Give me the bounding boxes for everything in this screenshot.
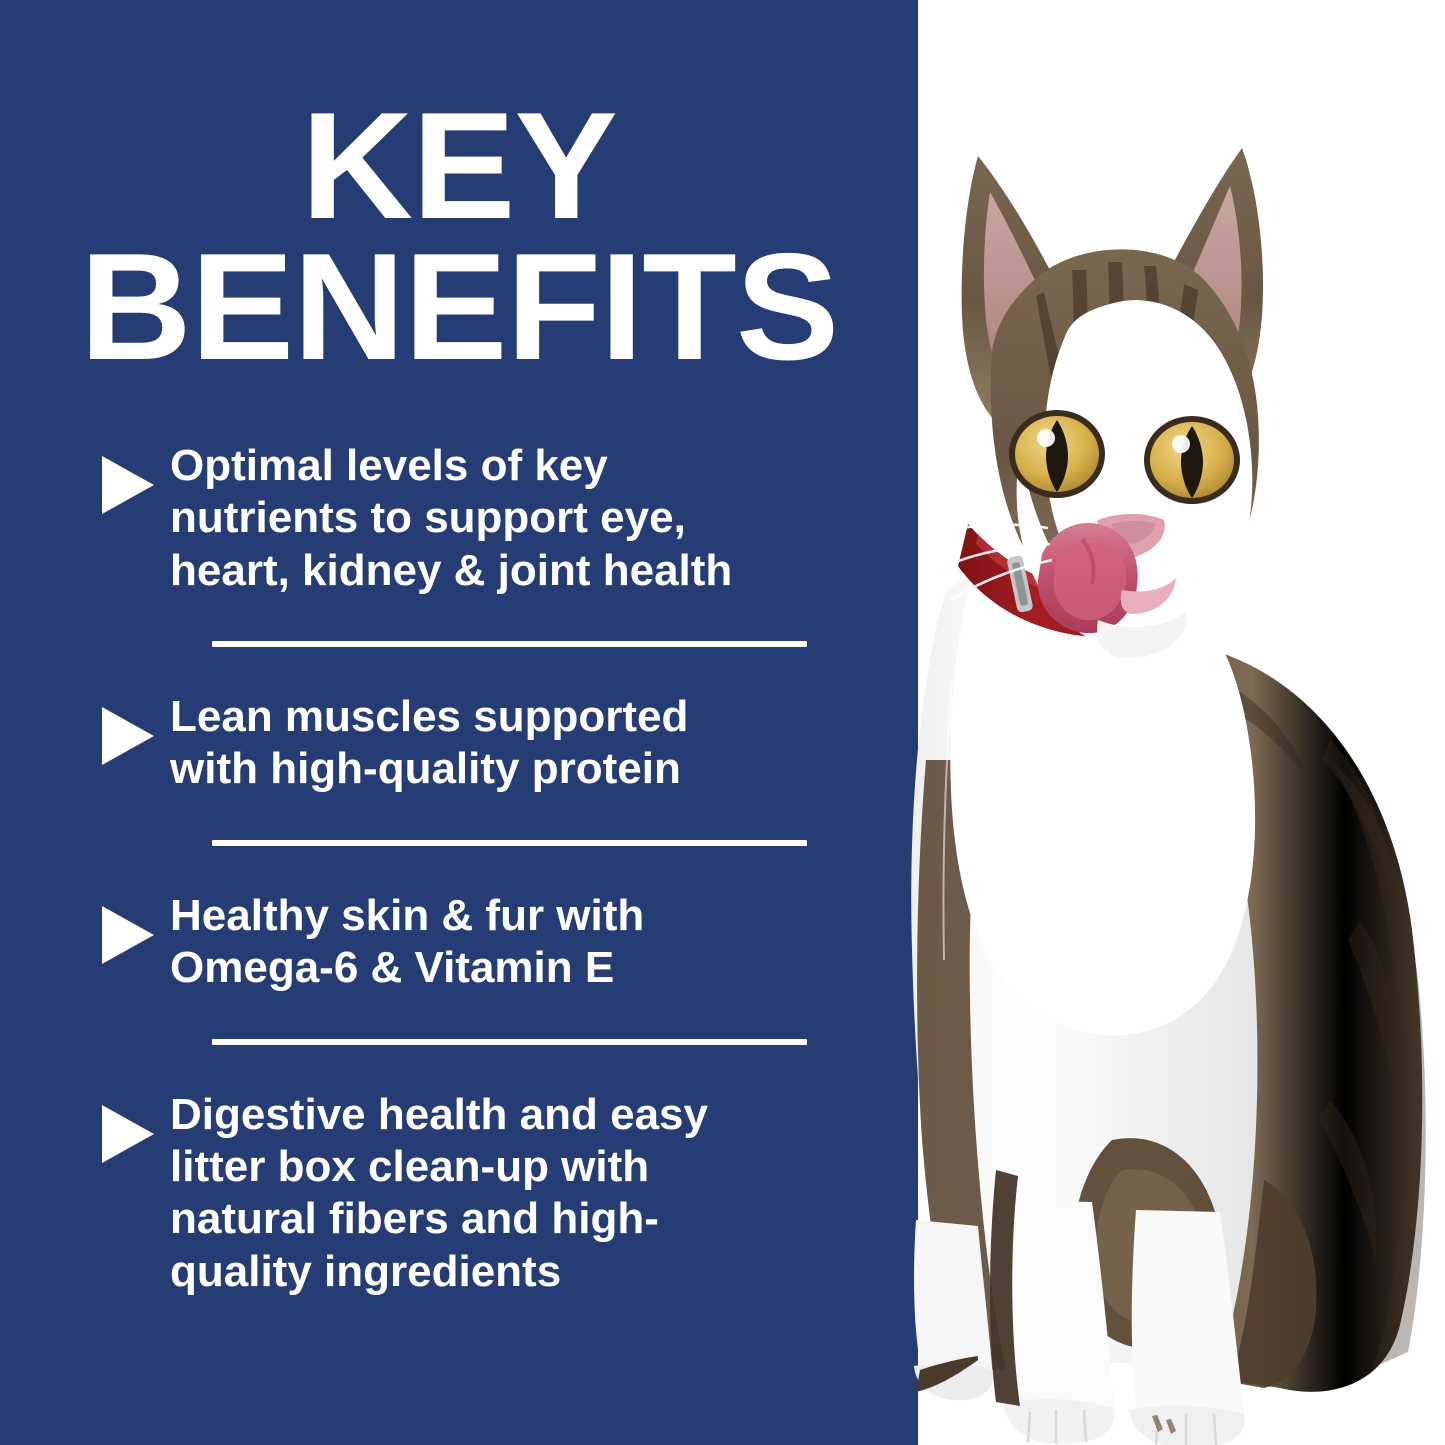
play-triangle-icon — [100, 454, 156, 516]
benefit-item-2: Lean muscles supported with high-quality… — [0, 691, 918, 796]
benefit-item-4: Digestive health and easy litter box cle… — [0, 1089, 918, 1298]
spacer — [0, 995, 918, 1039]
benefit-item-4-text: Digestive health and easy litter box cle… — [170, 1089, 778, 1298]
play-triangle-icon — [100, 1103, 156, 1165]
play-triangle-icon — [100, 705, 156, 767]
spacer — [0, 1045, 918, 1089]
key-benefits-banner: KEY BENEFITS Optimal levels of key nutri… — [0, 0, 1445, 1445]
benefit-item-1: Optimal levels of key nutrients to suppo… — [0, 440, 918, 597]
benefit-item-3-text: Healthy skin & fur with Omega-6 & Vitami… — [170, 890, 778, 995]
cat-photo — [860, 120, 1445, 1445]
benefit-item-3: Healthy skin & fur with Omega-6 & Vitami… — [0, 890, 918, 995]
benefits-list: Optimal levels of key nutrients to suppo… — [0, 440, 918, 1298]
spacer — [0, 796, 918, 840]
benefit-item-1-text: Optimal levels of key nutrients to suppo… — [170, 440, 778, 597]
play-triangle-icon — [100, 904, 156, 966]
spacer — [0, 597, 918, 641]
benefit-item-2-text: Lean muscles supported with high-quality… — [170, 691, 778, 796]
spacer — [0, 846, 918, 890]
spacer — [0, 647, 918, 691]
